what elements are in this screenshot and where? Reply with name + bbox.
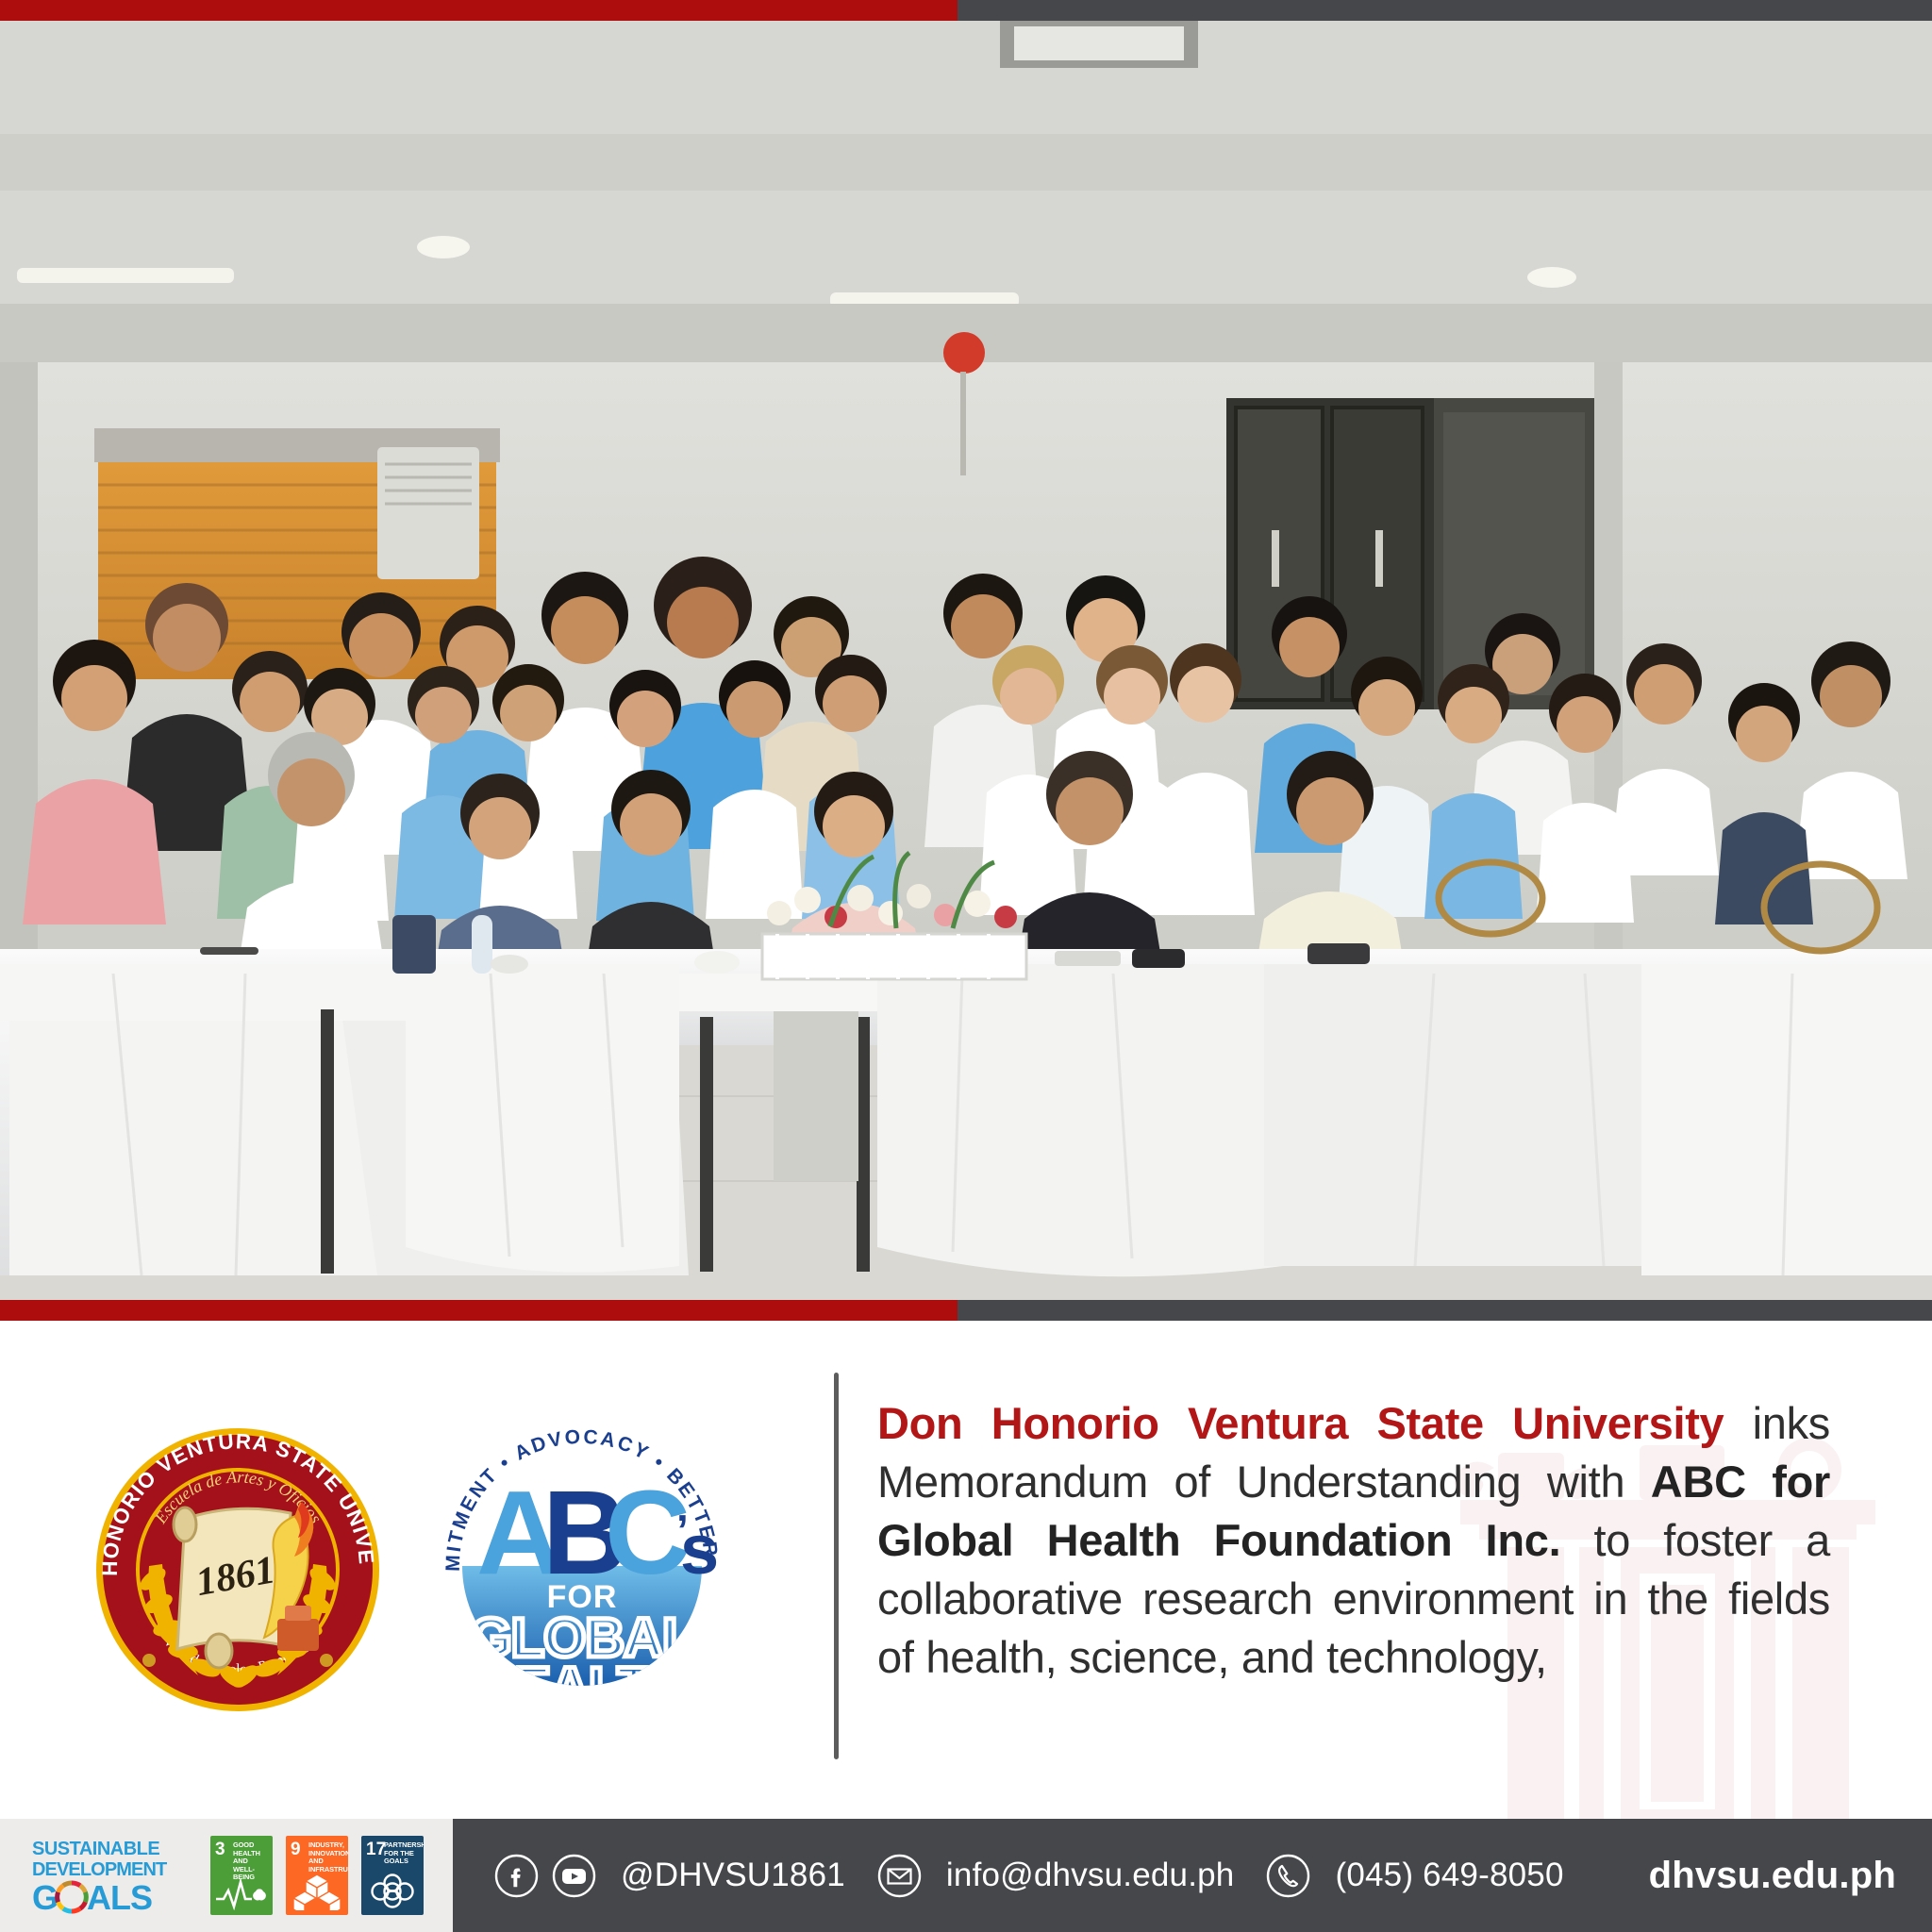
logo-row: DON HONORIO VENTURA STATE UNIVERSITY Vil… xyxy=(75,1377,774,1755)
sdg-goal-3-number: 3 xyxy=(215,1840,225,1858)
bottom-accent-bar-red-segment xyxy=(0,1300,958,1321)
sdg-goal-17: 17 PARTNERSHIPS FOR THE GOALS xyxy=(361,1836,424,1915)
sdg-goal-17-number: 17 xyxy=(366,1840,386,1858)
envelope-icon[interactable] xyxy=(877,1854,922,1898)
sdg-goal-3: 3 GOOD HEALTH AND WELL-BEING xyxy=(210,1836,273,1915)
rings-icon xyxy=(361,1873,424,1910)
heartbeat-icon xyxy=(210,1878,273,1910)
top-accent-bar xyxy=(0,0,1932,21)
caption-vertical-rule xyxy=(834,1373,839,1759)
caption-university-name: Don Honorio Ventura State University xyxy=(877,1398,1724,1448)
abcs-global-health-logo: COMMITMENT • ADVOCACY • BETTERMENT BETTE… xyxy=(420,1404,745,1729)
email-text: info@dhvsu.edu.ph xyxy=(946,1857,1235,1894)
facebook-icon[interactable] xyxy=(494,1854,539,1898)
sdg-goal-9: 9 INDUSTRY, INNOVATION AND INFRASTRUCTUR… xyxy=(286,1836,348,1915)
event-photo xyxy=(0,21,1932,1300)
sdg-line-2: DEVELOPMENT xyxy=(32,1859,167,1880)
bottom-accent-bar-gray-segment xyxy=(958,1300,1932,1321)
phone-icon[interactable] xyxy=(1266,1854,1310,1898)
caption-text-block: Don Honorio Ventura State University ink… xyxy=(877,1394,1830,1687)
sdg-goal-17-label: PARTNERSHIPS FOR THE GOALS xyxy=(384,1841,421,1866)
event-photo-illustration xyxy=(0,21,1932,1300)
svg-text:s: s xyxy=(680,1510,719,1589)
sdg-panel: SUSTAINABLE DEVELOPMENT G ALS xyxy=(0,1819,453,1932)
sdg-goal-9-number: 9 xyxy=(291,1840,301,1858)
cubes-icon xyxy=(286,1873,348,1910)
social-handle-text: @DHVSU1861 xyxy=(621,1857,845,1894)
poster-root: DON HONORIO VENTURA STATE UNIVERSITY Vil… xyxy=(0,0,1932,1932)
sdg-line-1: SUSTAINABLE xyxy=(32,1839,159,1859)
phone-text: (045) 649-8050 xyxy=(1335,1857,1563,1894)
top-accent-bar-gray-segment xyxy=(958,0,1932,21)
top-accent-bar-red-segment xyxy=(0,0,958,21)
sdg-goal-3-label: GOOD HEALTH AND WELL-BEING xyxy=(233,1841,270,1882)
contact-panel: @DHVSU1861 info@dhvsu.edu.ph (045) 649-8… xyxy=(453,1819,1932,1932)
youtube-icon[interactable] xyxy=(552,1854,596,1898)
sdg-goal-9-label: INDUSTRY, INNOVATION AND INFRASTRUCTURE xyxy=(308,1841,345,1874)
caption-paragraph: Don Honorio Ventura State University ink… xyxy=(877,1394,1830,1687)
svg-text:G: G xyxy=(32,1878,58,1915)
caption-section: DON HONORIO VENTURA STATE UNIVERSITY Vil… xyxy=(0,1321,1932,1819)
svg-text:ALS: ALS xyxy=(87,1878,152,1915)
sdg-color-wheel xyxy=(58,1883,87,1911)
dhvsu-seal-logo: DON HONORIO VENTURA STATE UNIVERSITY Vil… xyxy=(75,1404,401,1729)
footer-bar: SUSTAINABLE DEVELOPMENT G ALS xyxy=(0,1819,1932,1932)
website-text: dhvsu.edu.ph xyxy=(1649,1855,1896,1897)
bottom-accent-bar xyxy=(0,1300,1932,1321)
sdg-wordmark: SUSTAINABLE DEVELOPMENT G ALS xyxy=(32,1836,197,1915)
